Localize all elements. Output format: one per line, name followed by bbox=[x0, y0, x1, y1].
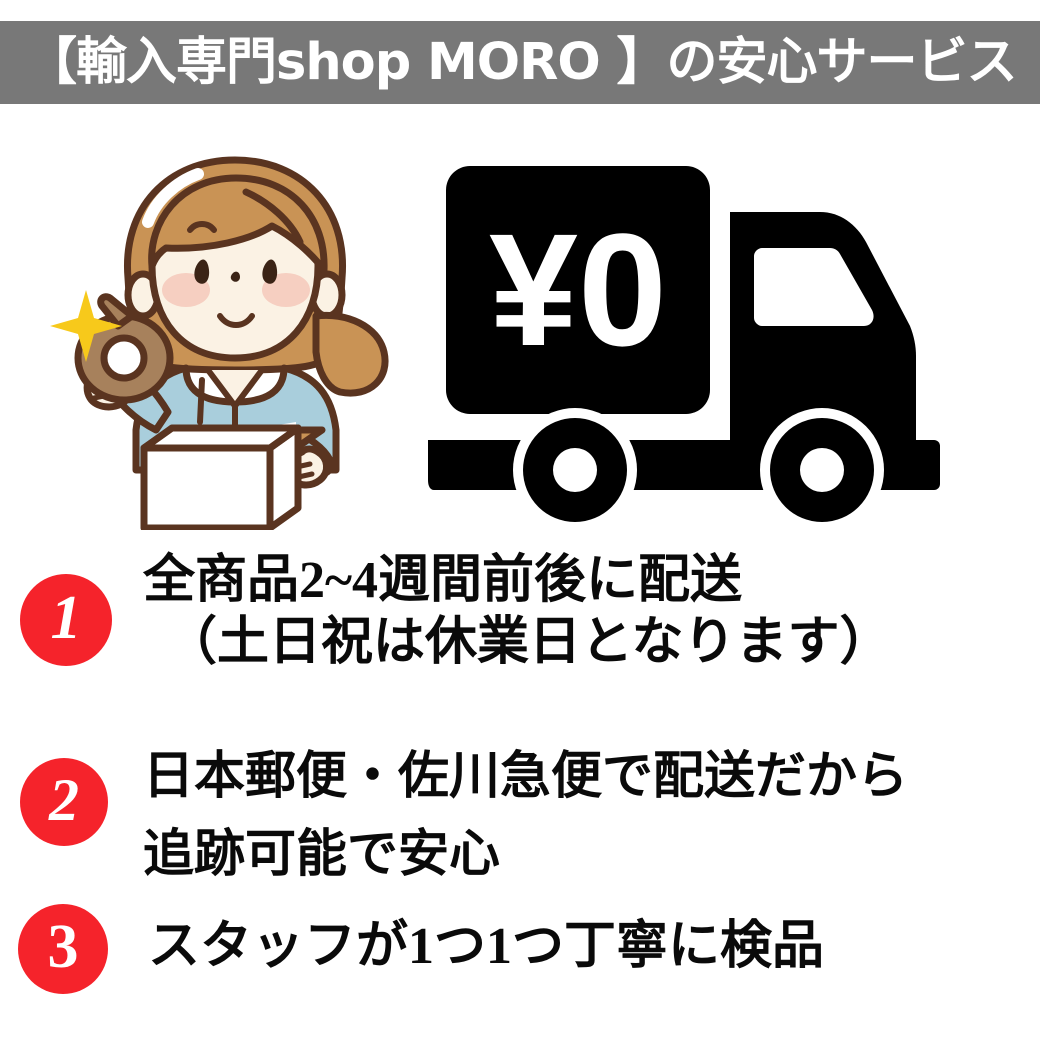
benefit-item-3: 3 スタッフが1つ1つ丁寧に検品 bbox=[0, 898, 1040, 1028]
benefit-2-line1: 日本郵便・佐川急便で配送だから bbox=[143, 749, 908, 805]
benefit-badge-1: 1 bbox=[20, 574, 112, 666]
box-top bbox=[144, 428, 298, 448]
benefit-text-2: 日本郵便・佐川急便で配送だから 追跡可能で安心 bbox=[143, 738, 908, 894]
staff-inspecting-package-illustration bbox=[40, 130, 430, 530]
benefit-badge-2: 2 bbox=[20, 758, 108, 846]
page-title: 【輸入専門shop MORO 】の安心サービス bbox=[26, 37, 1016, 88]
benefit-badge-3: 3 bbox=[18, 904, 108, 994]
benefit-2-line2: 追跡可能で安心 bbox=[143, 816, 908, 894]
benefit-1-line2: （土日祝は休業日となります） bbox=[165, 612, 891, 674]
free-shipping-truck-illustration: ¥0 bbox=[420, 140, 1020, 530]
truck-front-hub bbox=[800, 448, 844, 492]
box-front bbox=[144, 448, 270, 528]
magnifier-glass bbox=[104, 338, 144, 378]
benefit-item-2: 2 日本郵便・佐川急便で配送だから 追跡可能で安心 bbox=[0, 738, 1040, 898]
benefit-1-line1: 全商品2~4週間前後に配送 bbox=[143, 552, 742, 609]
ponytail bbox=[316, 315, 385, 393]
benefit-3-line1: スタッフが1つ1つ丁寧に検品 bbox=[148, 918, 824, 975]
benefit-text-1: 全商品2~4週間前後に配送 （土日祝は休業日となります） bbox=[143, 550, 891, 674]
benefit-text-3: スタッフが1つ1つ丁寧に検品 bbox=[148, 916, 824, 978]
truck-rear-hub bbox=[553, 448, 597, 492]
free-shipping-label: ¥0 bbox=[489, 200, 667, 379]
benefits-list: 1 全商品2~4週間前後に配送 （土日祝は休業日となります） 2 日本郵便・佐川… bbox=[0, 548, 1040, 1028]
uniform-fold bbox=[200, 380, 202, 422]
illustration-band: ¥0 bbox=[0, 110, 1040, 540]
header-banner: 【輸入専門shop MORO 】の安心サービス bbox=[0, 21, 1040, 104]
benefit-item-1: 1 全商品2~4週間前後に配送 （土日祝は休業日となります） bbox=[0, 548, 1040, 738]
truck-bumper bbox=[900, 440, 940, 490]
